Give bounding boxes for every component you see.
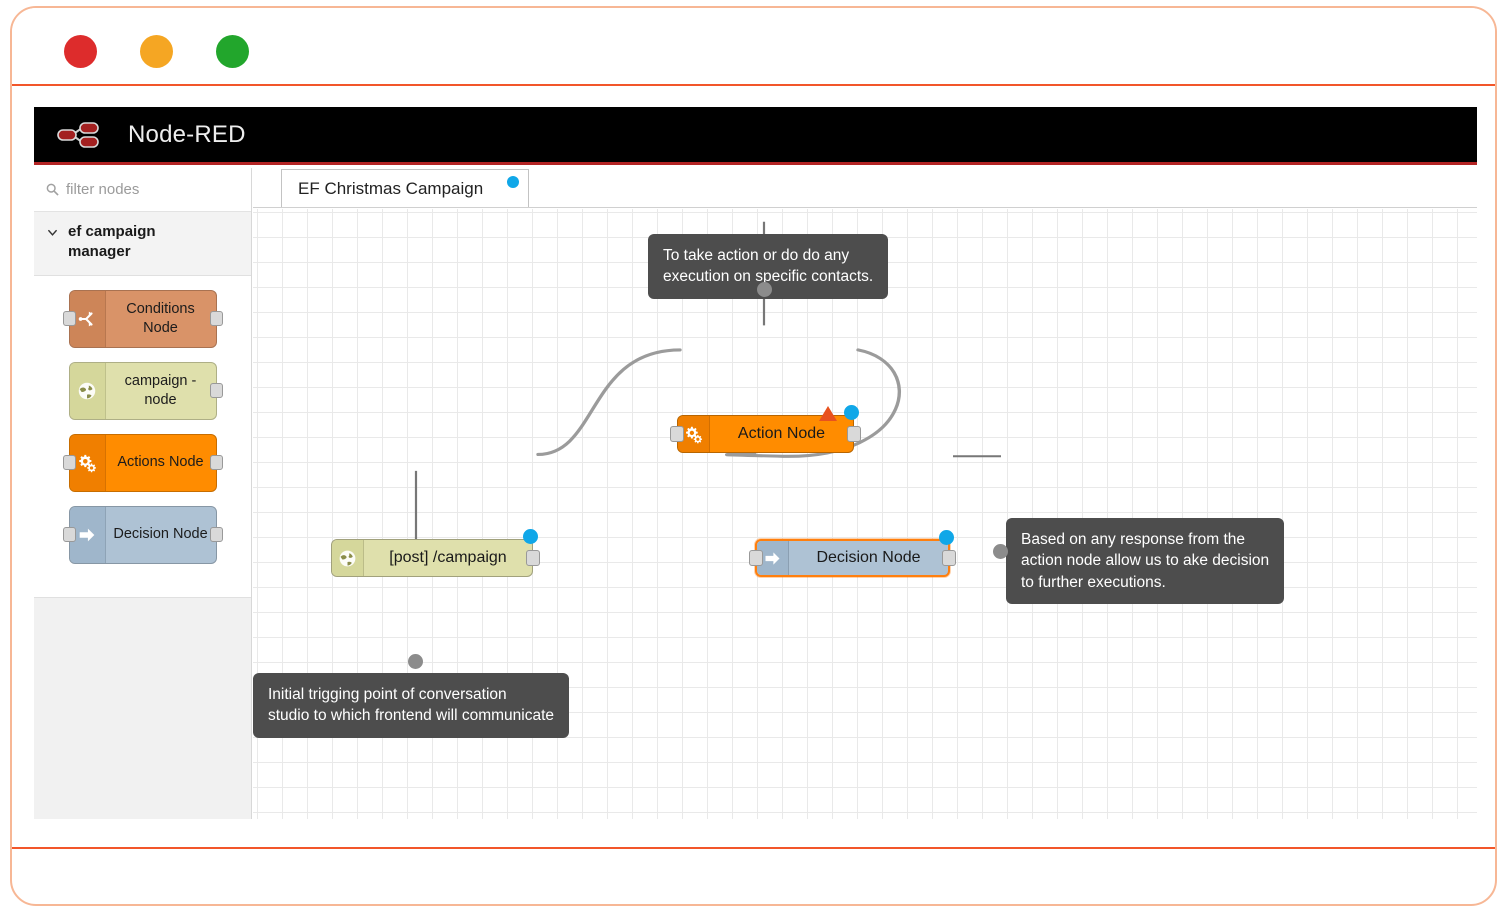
palette-node-input-port[interactable]	[63, 311, 76, 326]
search-icon	[46, 183, 59, 196]
palette-sidebar: ef campaign manager Conditions Nodecampa…	[34, 168, 252, 819]
palette-node-label: Decision Node	[106, 525, 216, 544]
palette-node-decision-node[interactable]: Decision Node	[69, 506, 217, 564]
palette-node-campaign-node[interactable]: campaign - node	[69, 362, 217, 420]
palette-node-output-port[interactable]	[210, 527, 223, 542]
window-titlebar	[12, 8, 1495, 86]
tab-label: EF Christmas Campaign	[298, 179, 483, 199]
flow-node-output-port[interactable]	[526, 550, 540, 566]
app-header: Node-RED	[34, 107, 1477, 165]
window-footer-rule	[12, 847, 1495, 849]
wire-campaign-to-action	[538, 350, 680, 455]
traffic-light-group	[64, 35, 249, 68]
palette-node-output-port[interactable]	[210, 455, 223, 470]
globe-icon	[337, 548, 358, 569]
annotation-campaign-note: Initial trigging point of conversation s…	[253, 673, 569, 738]
palette-category-ef-campaign-manager[interactable]: ef campaign manager	[34, 212, 251, 276]
palette-node-label: Conditions Node	[106, 300, 216, 337]
palette-node-actions-node[interactable]: Actions Node	[69, 434, 217, 492]
warning-triangle-icon	[819, 406, 837, 421]
annotation-anchor-dot-icon	[993, 544, 1008, 559]
palette-node-label: campaign - node	[106, 372, 216, 409]
flow-node-icon-box	[332, 540, 364, 576]
flow-node-label: [post] /campaign	[364, 549, 532, 567]
app-title: Node-RED	[128, 121, 246, 149]
flow-canvas[interactable]: [post] /campaignAction NodeDecision Node…	[253, 209, 1477, 819]
flow-node-decision[interactable]: Decision Node	[755, 539, 950, 577]
workspace: EF Christmas Campaign [post]	[253, 168, 1477, 819]
palette-node-conditions-node[interactable]: Conditions Node	[69, 290, 217, 348]
flow-node-input-port[interactable]	[749, 550, 763, 566]
annotation-decision-note: Based on any response from the action no…	[1006, 518, 1284, 604]
flow-node-output-port[interactable]	[847, 426, 861, 442]
tab-status-dot-icon	[507, 176, 519, 188]
node-red-logo-icon	[56, 118, 114, 152]
gears-icon	[683, 424, 704, 445]
globe-icon	[76, 380, 98, 402]
workspace-tabbar: EF Christmas Campaign	[253, 168, 1477, 208]
palette-category-label: ef campaign manager	[68, 222, 193, 263]
node-red-app: Node-RED ef campaign mana	[34, 107, 1477, 819]
arrow-right-icon	[76, 524, 98, 546]
flow-node-output-port[interactable]	[942, 550, 956, 566]
flow-node-label: Action Node	[710, 425, 853, 443]
palette-node-list: Conditions Nodecampaign - nodeActions No…	[34, 276, 251, 588]
flow-node-input-port[interactable]	[670, 426, 684, 442]
palette-node-input-port[interactable]	[63, 455, 76, 470]
tab-ef-christmas-campaign[interactable]: EF Christmas Campaign	[281, 169, 529, 207]
arrow-right-icon	[762, 548, 783, 569]
node-status-dot-icon	[844, 405, 859, 420]
window-frame: Node-RED ef campaign mana	[10, 6, 1497, 906]
gears-icon	[76, 452, 98, 474]
palette-node-output-port[interactable]	[210, 311, 223, 326]
window-maximize-button[interactable]	[216, 35, 249, 68]
chevron-down-icon	[46, 226, 59, 239]
flow-node-label: Decision Node	[789, 549, 948, 567]
annotation-anchor-dot-icon	[757, 282, 772, 297]
node-status-dot-icon	[523, 529, 538, 544]
branch-split-icon	[76, 308, 98, 330]
flow-node-campaign[interactable]: [post] /campaign	[331, 539, 533, 577]
palette-empty-area	[34, 597, 251, 819]
node-status-dot-icon	[939, 530, 954, 545]
annotation-anchor-dot-icon	[408, 654, 423, 669]
window-close-button[interactable]	[64, 35, 97, 68]
palette-node-output-port[interactable]	[210, 383, 223, 398]
window-minimize-button[interactable]	[140, 35, 173, 68]
palette-node-input-port[interactable]	[63, 527, 76, 542]
palette-node-icon-box	[70, 363, 106, 419]
palette-search-row[interactable]	[34, 168, 251, 212]
palette-node-label: Actions Node	[106, 453, 216, 472]
flow-node-action[interactable]: Action Node	[677, 415, 854, 453]
filter-nodes-input[interactable]	[66, 181, 226, 198]
